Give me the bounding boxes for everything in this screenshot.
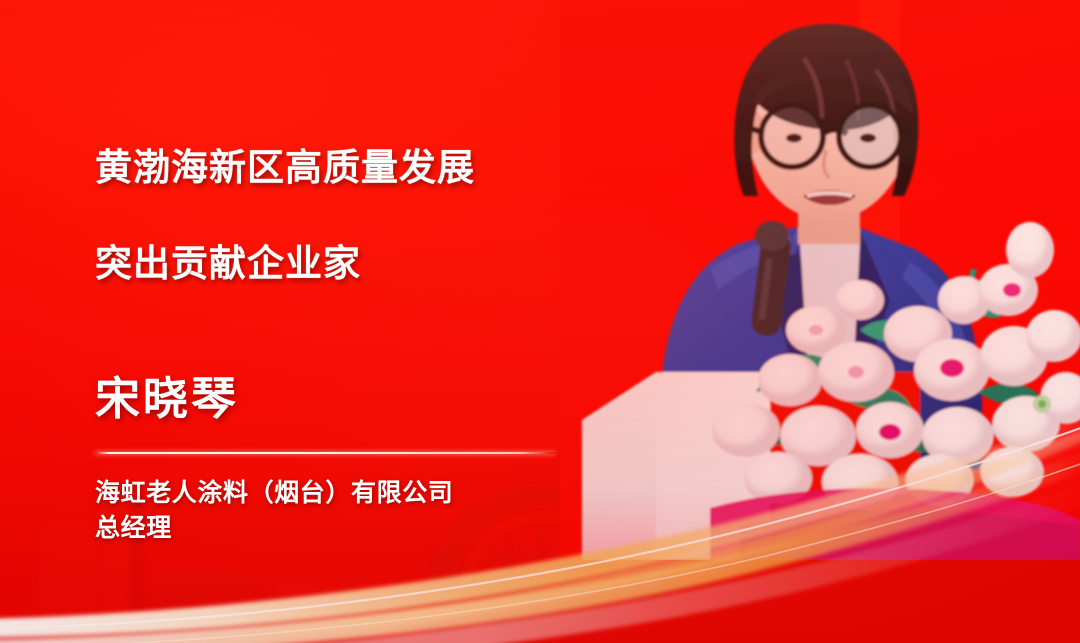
award-title-line-2: 突出贡献企业家 — [95, 240, 565, 288]
affiliation-company: 海虹老人涂料（烟台）有限公司 — [95, 476, 565, 512]
affiliation-position: 总经理 — [95, 511, 565, 547]
honoree-photo — [560, 0, 1080, 560]
award-poster: 黄渤海新区高质量发展 突出贡献企业家 宋晓琴 海虹老人涂料（烟台）有限公司 总经… — [0, 0, 1080, 643]
award-title: 黄渤海新区高质量发展 突出贡献企业家 — [95, 96, 565, 336]
honoree-affiliation: 海虹老人涂料（烟台）有限公司 总经理 — [95, 476, 565, 547]
title-divider — [95, 452, 555, 454]
poster-text-block: 黄渤海新区高质量发展 突出贡献企业家 宋晓琴 海虹老人涂料（烟台）有限公司 总经… — [95, 96, 565, 547]
award-title-line-1: 黄渤海新区高质量发展 — [95, 144, 565, 192]
honoree-name: 宋晓琴 — [95, 374, 565, 424]
